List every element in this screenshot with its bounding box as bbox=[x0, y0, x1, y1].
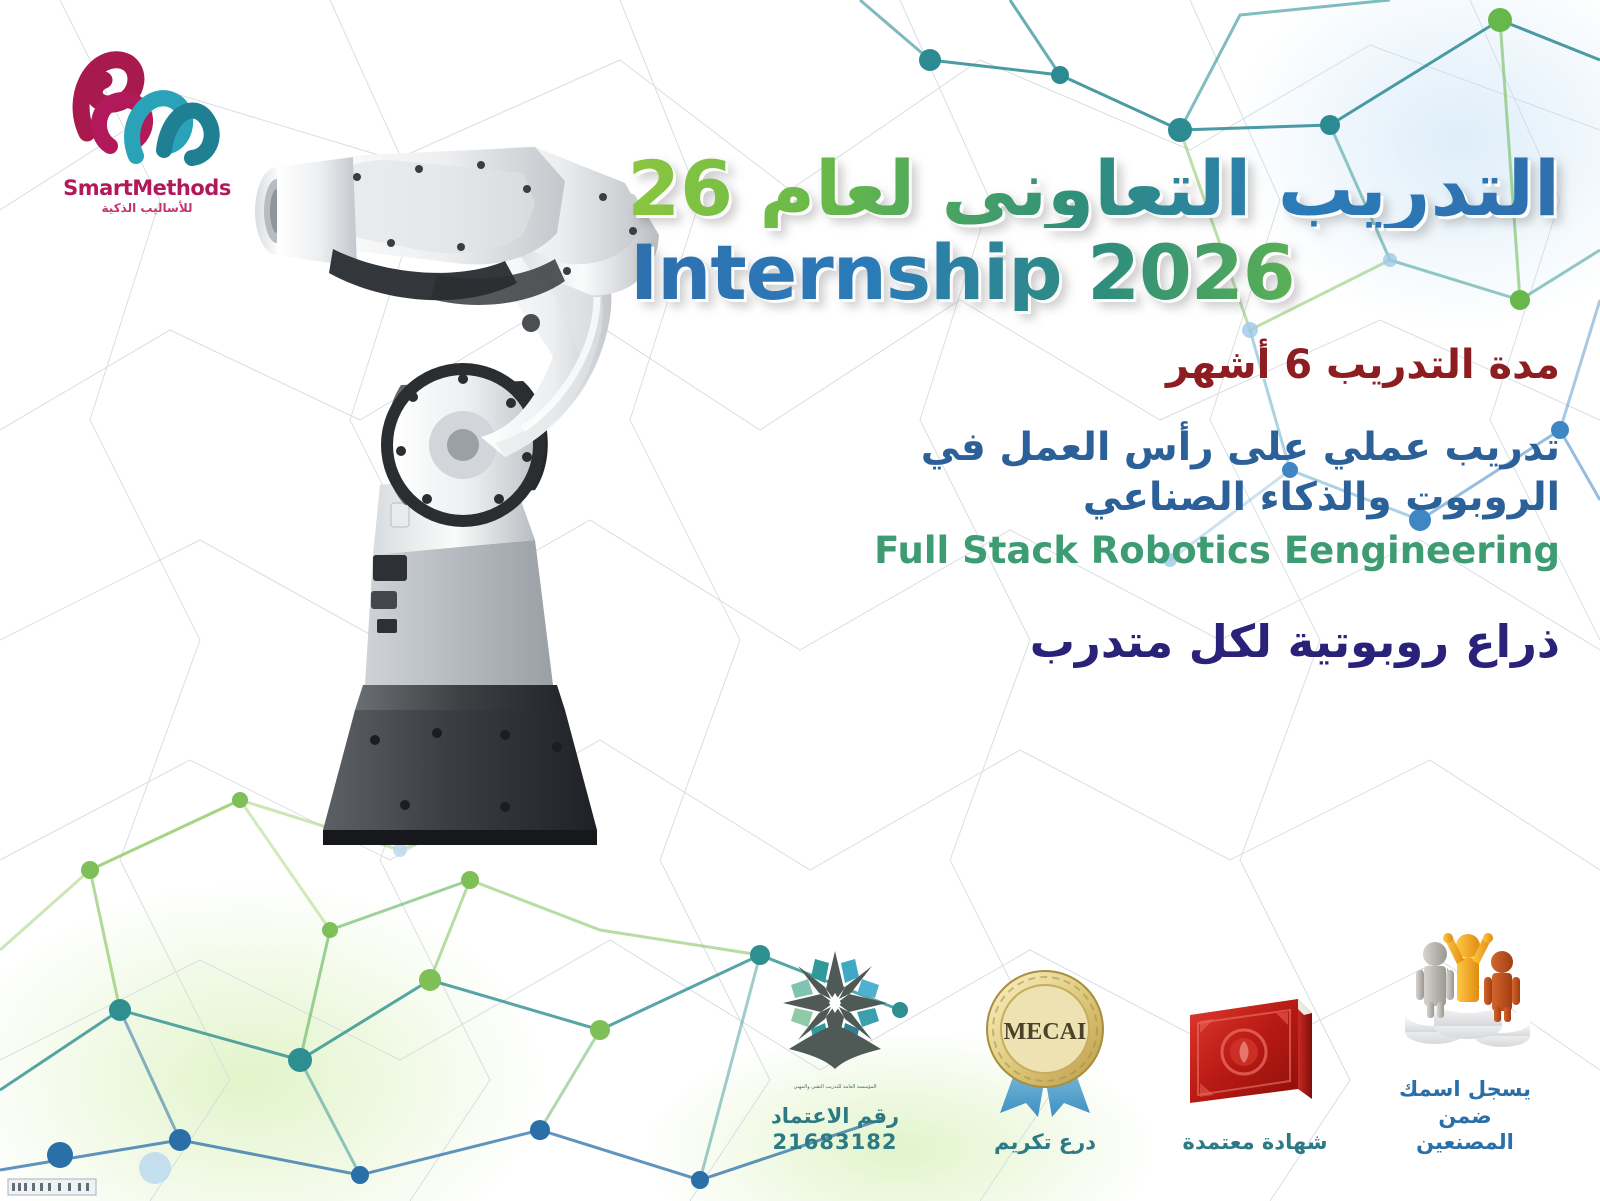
logo-wordmark-en: SmartMethods bbox=[52, 176, 242, 200]
duration-text: مدة التدريب 6 أشهر bbox=[630, 341, 1560, 389]
badge-label-honor: درع تكريم bbox=[994, 1129, 1096, 1155]
title-english: Internship 2026 bbox=[630, 234, 1560, 312]
winners-podium-icon bbox=[1390, 914, 1540, 1064]
title-arabic: التدريب التعاوني لعام 2026 bbox=[630, 150, 1560, 228]
tvtc-star-icon bbox=[765, 931, 905, 1081]
badge-label-registry-line1: يسجل اسمك bbox=[1399, 1077, 1531, 1101]
corner-artifact bbox=[6, 1175, 98, 1197]
description-line-1: تدريب عملي على رأس العمل في bbox=[921, 425, 1560, 470]
logo-wordmark-ar: للأساليب الذكية bbox=[52, 201, 242, 215]
gold-medal-icon: MECAI bbox=[980, 967, 1110, 1117]
accreditation-number: 21683182 bbox=[771, 1129, 899, 1155]
red-certificate-folder-icon bbox=[1180, 967, 1330, 1117]
poster-canvas: SmartMethods للأساليب الذكية bbox=[0, 0, 1600, 1201]
poster-content: التدريب التعاوني لعام 2026 Internship 20… bbox=[630, 150, 1560, 669]
tvtc-subtitle: المؤسسة العامة للتدريب التقني والمهني bbox=[793, 1084, 876, 1091]
description-text: تدريب عملي على رأس العمل في الروبوت والذ… bbox=[630, 423, 1560, 523]
badge-honor-shield: MECAI درع تكريم bbox=[970, 967, 1120, 1155]
smartmethods-ribbon-logo bbox=[52, 38, 242, 178]
badge-certificate: شهادة معتمدة bbox=[1180, 967, 1330, 1155]
badge-manufacturers-registry: يسجل اسمك ضمن المصنعين bbox=[1390, 914, 1540, 1155]
badge-label-accreditation: رقم الاعتماد 21683182 bbox=[771, 1103, 899, 1156]
medal-text: MECAI bbox=[1004, 1019, 1087, 1045]
badge-label-registry-line2: ضمن المصنعين bbox=[1416, 1104, 1514, 1154]
badge-label-registry: يسجل اسمك ضمن المصنعين bbox=[1390, 1076, 1540, 1155]
description-line-2: الروبوت والذكاء الصناعي bbox=[630, 473, 1560, 523]
offer-text: ذراع روبوتية لكل متدرب bbox=[630, 615, 1560, 669]
badge-label-text: رقم الاعتماد bbox=[771, 1104, 899, 1128]
subtitle-english: Full Stack Robotics Eengineering bbox=[630, 529, 1560, 573]
badge-accreditation-number: المؤسسة العامة للتدريب التقني والمهني رق… bbox=[760, 931, 910, 1155]
badge-label-certificate: شهادة معتمدة bbox=[1183, 1129, 1328, 1155]
smartmethods-logo: SmartMethods للأساليب الذكية bbox=[52, 38, 242, 223]
accreditation-badges: المؤسسة العامة للتدريب التقني والمهني رق… bbox=[760, 914, 1540, 1155]
